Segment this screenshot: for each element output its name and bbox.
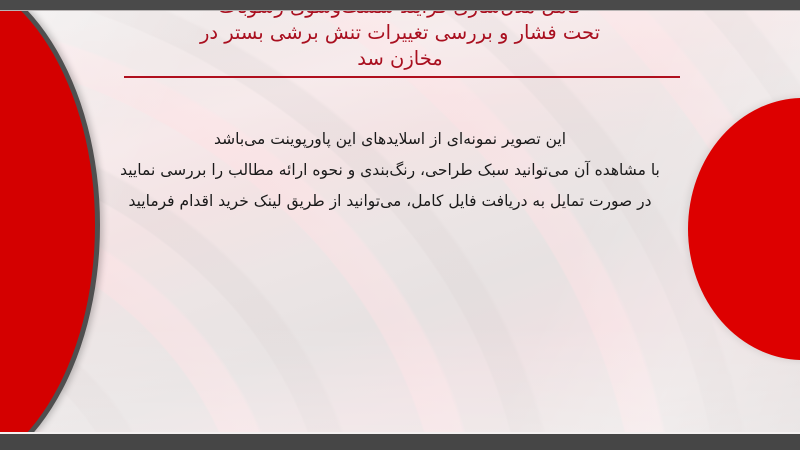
- slide-body: این تصویر نمونه‌ای از اسلایدهای این پاور…: [120, 124, 660, 217]
- body-line-3: در صورت تمایل به دریافت فایل کامل، می‌تو…: [120, 186, 660, 217]
- top-gray-bar: [0, 0, 800, 10]
- slide-canvas: کامل مدل‌سازی فرآیند شست‌وشوی رسوبات تحت…: [0, 0, 800, 450]
- title-line-2: تحت فشار و بررسی تغییرات تنش برشی بستر د…: [140, 20, 660, 46]
- top-bar-edge-line: [0, 10, 800, 11]
- body-line-1: این تصویر نمونه‌ای از اسلایدهای این پاور…: [120, 124, 660, 155]
- bottom-gray-bar: [0, 434, 800, 450]
- title-divider-rule: [124, 76, 680, 78]
- title-line-3: مخازن سد: [140, 46, 660, 72]
- body-line-2: با مشاهده آن می‌توانید سبک طراحی، رنگ‌بن…: [120, 155, 660, 186]
